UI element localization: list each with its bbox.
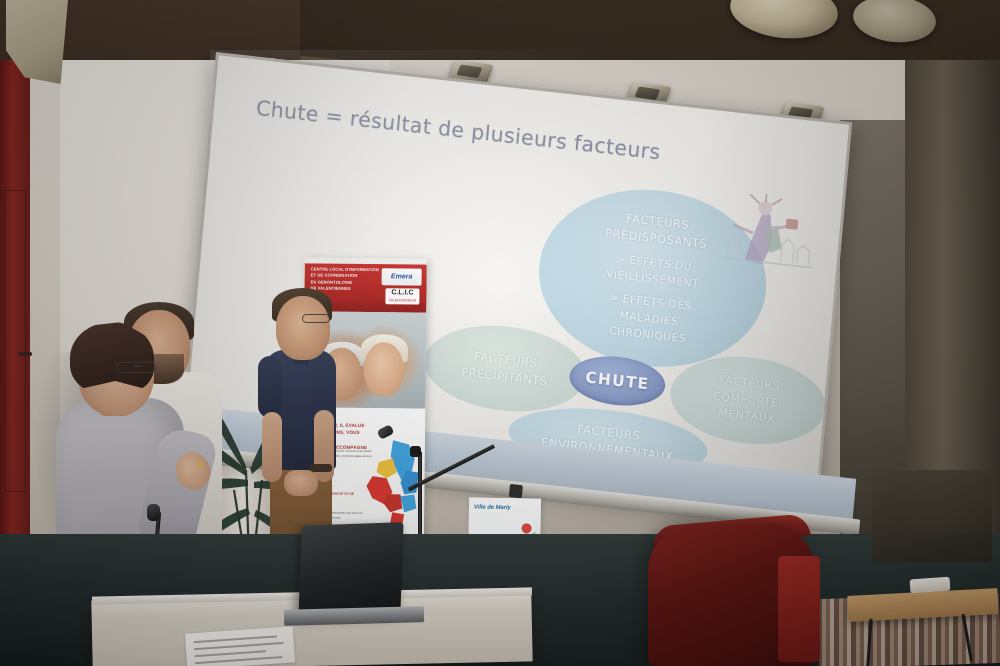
background-dark-furniture <box>872 470 992 562</box>
side-table-object[interactable] <box>910 577 951 594</box>
woman-ring <box>196 462 203 467</box>
spacer <box>655 248 656 255</box>
roller-clip-right <box>509 484 523 498</box>
flyer-line-3 <box>194 650 266 657</box>
flyer-line-2 <box>194 642 284 650</box>
flyer-line-4 <box>195 656 283 664</box>
young-man-head <box>276 296 330 360</box>
falling-person-illustration <box>714 189 820 278</box>
photo-person-right-head <box>363 342 404 396</box>
laptop-screen[interactable] <box>298 522 403 618</box>
red-chair-background[interactable] <box>778 556 820 662</box>
clic-badge: C.L.I.C VALENCIENNOIS <box>385 288 419 304</box>
microphone-boom-joint[interactable] <box>410 446 421 457</box>
banner-header-text: CENTRE LOCAL D'INFORMATION ET DE COORDIN… <box>310 266 382 292</box>
photo-scene: Chute = résultat de plusieurs facteurs F… <box>0 0 1000 666</box>
young-man-clasped-hands <box>284 470 318 496</box>
young-man-wristwatch <box>310 464 332 472</box>
door-handle[interactable] <box>18 352 32 356</box>
emera-logo: Emera <box>382 268 422 285</box>
young-man-sleeve <box>258 356 282 418</box>
spacer <box>651 288 652 295</box>
table-microphone-capsule[interactable] <box>147 504 160 521</box>
clic-badge-title: C.L.I.C <box>385 288 419 297</box>
marly-title: Ville de Marly <box>474 504 511 511</box>
chute-label: CHUTE <box>585 368 650 393</box>
young-man-left-arm <box>262 412 282 482</box>
young-man-glasses <box>302 314 330 323</box>
flyer-line-1 <box>193 635 277 643</box>
clic-badge-sub: VALENCIENNOIS <box>385 297 419 303</box>
slide-title: Chute = résultat de plusieurs facteurs <box>255 96 685 168</box>
bubble-facteurs-precipitants: FACTEURS PRECIPITANTS <box>421 318 590 419</box>
paper-flyer[interactable] <box>185 626 295 666</box>
woman-glasses <box>116 362 156 373</box>
